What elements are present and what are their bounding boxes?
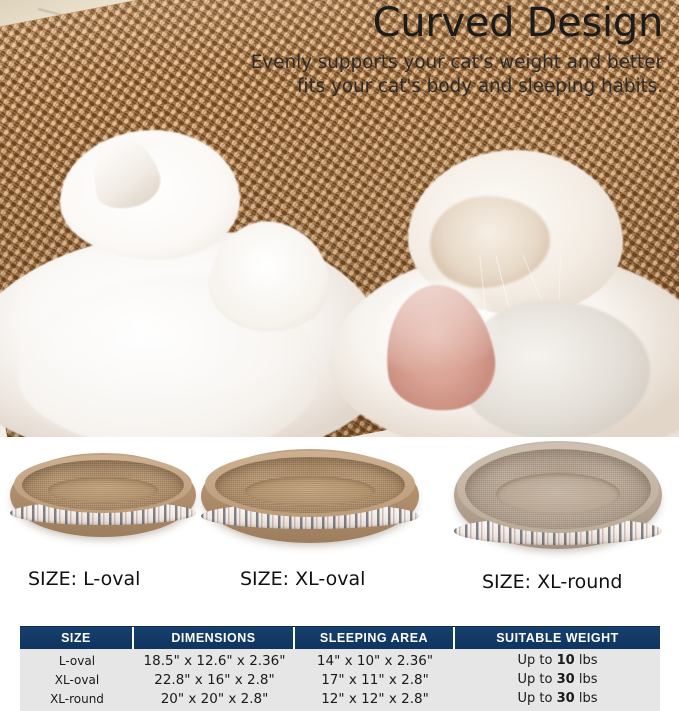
hero-lifestyle-photo: Curved Design Evenly supports your cat's… xyxy=(0,0,679,437)
cell-suitable-weight: Up to 30 lbs xyxy=(455,672,660,687)
xl-round-floor xyxy=(496,473,620,515)
column-header-size: SIZE xyxy=(20,627,134,649)
table-row: XL-round 20" x 20" x 2.8" 12" x 12" x 2.… xyxy=(20,689,660,708)
weight-prefix: Up to xyxy=(518,691,553,706)
weight-unit: lbs xyxy=(579,653,598,668)
column-header-suitable-weight: SUITABLE WEIGHT xyxy=(455,627,660,649)
product-xl-round[interactable] xyxy=(452,439,664,561)
hero-subtitle: Evenly supports your cat's weight and be… xyxy=(233,51,663,99)
cell-dimensions: 20" x 20" x 2.8" xyxy=(134,691,295,707)
cell-dimensions: 18.5" x 12.6" x 2.36" xyxy=(134,653,295,669)
cell-sleeping-area: 12" x 12" x 2.8" xyxy=(295,691,455,707)
specifications-table: SIZE DIMENSIONS SLEEPING AREA SUITABLE W… xyxy=(20,626,660,711)
weight-value: 30 xyxy=(557,691,575,706)
weight-value: 30 xyxy=(557,672,575,687)
size-label-xl-oval: SIZE: XL-oval xyxy=(240,568,365,590)
cell-size: L-oval xyxy=(20,654,134,668)
weight-unit: lbs xyxy=(579,691,598,706)
size-label-l-oval: SIZE: L-oval xyxy=(28,568,140,590)
table-header-row: SIZE DIMENSIONS SLEEPING AREA SUITABLE W… xyxy=(20,626,660,649)
weight-value: 10 xyxy=(557,653,575,668)
table-row: L-oval 18.5" x 12.6" x 2.36" 14" x 10" x… xyxy=(20,651,660,670)
weight-prefix: Up to xyxy=(518,672,553,687)
cell-size: XL-oval xyxy=(20,673,134,687)
cell-suitable-weight: Up to 10 lbs xyxy=(455,653,660,668)
l-oval-floor xyxy=(48,477,158,503)
product-xl-oval[interactable] xyxy=(199,447,421,557)
hero-text-block: Curved Design Evenly supports your cat's… xyxy=(233,2,663,99)
table-body: L-oval 18.5" x 12.6" x 2.36" 14" x 10" x… xyxy=(20,649,660,711)
hero-title: Curved Design xyxy=(233,2,663,44)
product-detail-page: Curved Design Evenly supports your cat's… xyxy=(0,0,679,711)
product-size-gallery: SIZE: L-oval SIZE: XL-oval SIZE: XL-roun… xyxy=(0,437,679,625)
xl-oval-floor xyxy=(245,476,375,506)
column-header-sleeping-area: SLEEPING AREA xyxy=(295,627,455,649)
size-label-xl-round: SIZE: XL-round xyxy=(482,571,622,593)
cell-dimensions: 22.8" x 16" x 2.8" xyxy=(134,672,295,688)
column-header-dimensions: DIMENSIONS xyxy=(134,627,295,649)
table-row: XL-oval 22.8" x 16" x 2.8" 17" x 11" x 2… xyxy=(20,670,660,689)
product-l-oval[interactable] xyxy=(8,451,198,551)
weight-unit: lbs xyxy=(579,672,598,687)
cell-suitable-weight: Up to 30 lbs xyxy=(455,691,660,706)
cell-sleeping-area: 17" x 11" x 2.8" xyxy=(295,672,455,688)
cell-size: XL-round xyxy=(20,692,134,706)
weight-prefix: Up to xyxy=(518,653,553,668)
cell-sleeping-area: 14" x 10" x 2.36" xyxy=(295,653,455,669)
